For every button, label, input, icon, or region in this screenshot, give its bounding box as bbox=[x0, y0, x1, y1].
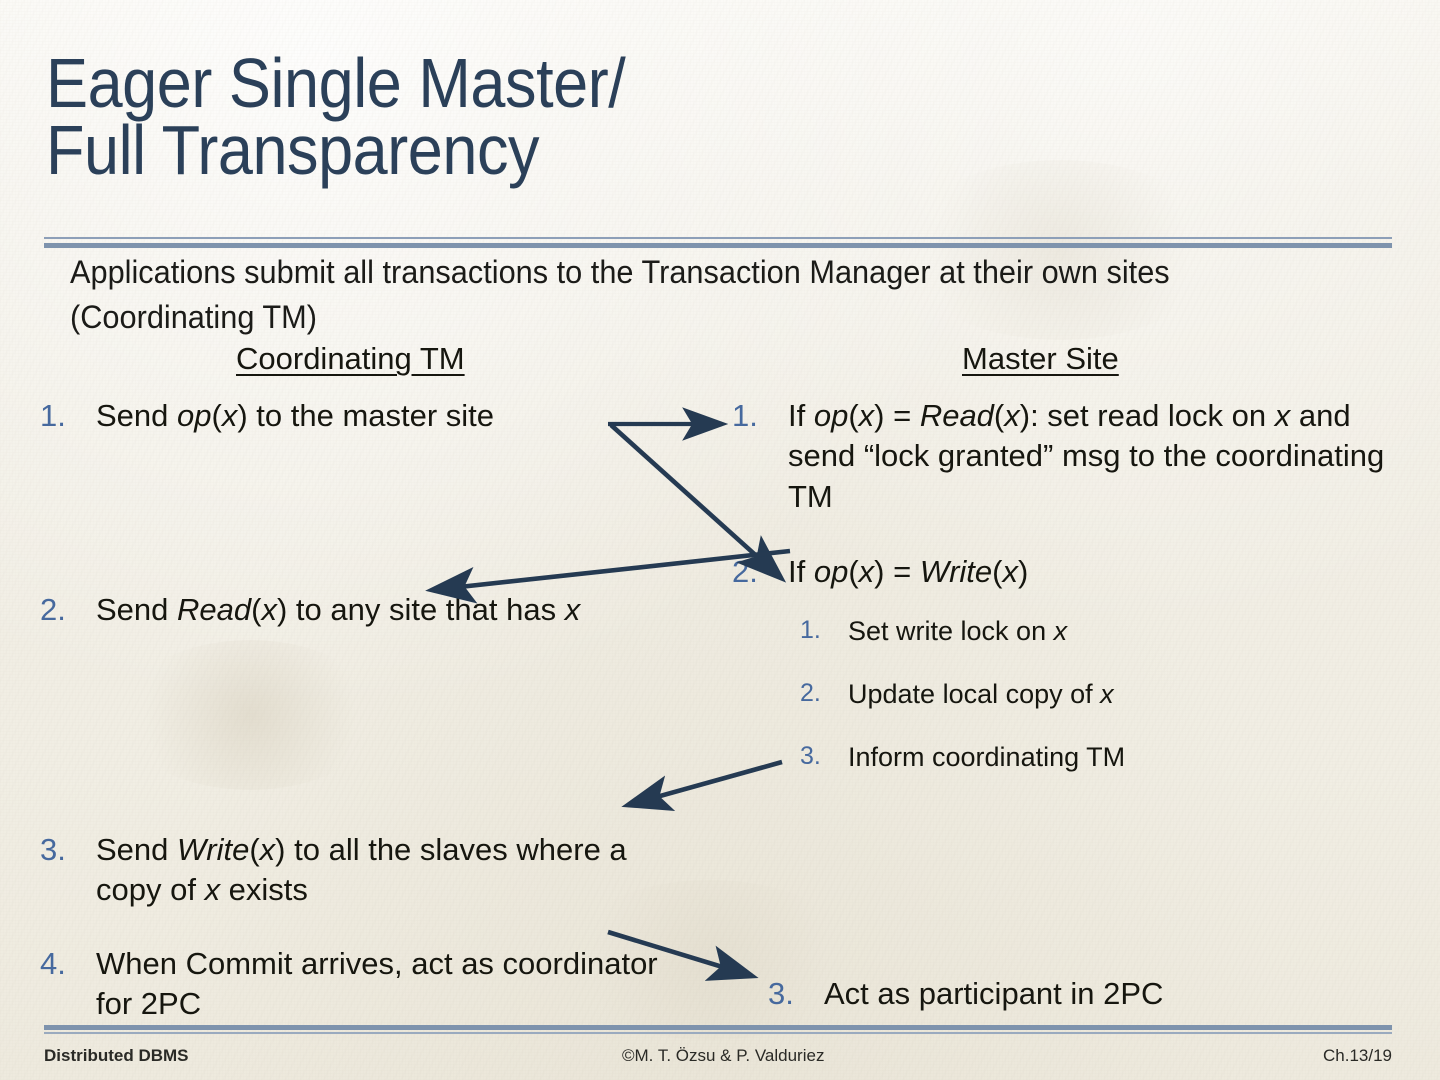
sub-list-item: 3. Inform coordinating TM bbox=[800, 740, 1440, 775]
list-item-number: 2. bbox=[40, 590, 96, 630]
sub-list-item-text: Update local copy of x bbox=[848, 677, 1440, 712]
intro-paragraph: Applications submit all transactions to … bbox=[70, 250, 1308, 341]
list-item: 1. If op(x) = Read(x): set read lock on … bbox=[732, 396, 1422, 517]
list-item: 2. Send Read(x) to any site that has x bbox=[40, 590, 700, 630]
column-heading-coordinating-tm: Coordinating TM bbox=[236, 341, 465, 377]
list-item-number: 3. bbox=[768, 974, 824, 1014]
list-item: 4. When Commit arrives, act as coordinat… bbox=[40, 944, 700, 1025]
title-divider-bar bbox=[44, 243, 1392, 248]
sub-list-item: 1. Set write lock on x bbox=[800, 614, 1440, 649]
list-item-text: Send Write(x) to all the slaves where a … bbox=[96, 830, 700, 911]
sub-list-item-text: Inform coordinating TM bbox=[848, 740, 1440, 775]
sub-list-item-number: 3. bbox=[800, 740, 848, 773]
list-item-text: Send Read(x) to any site that has x bbox=[96, 590, 700, 630]
footer-divider bbox=[44, 1025, 1392, 1034]
footer-slide-number: Ch.13/19 bbox=[1323, 1046, 1392, 1066]
list-item-number: 1. bbox=[732, 396, 788, 436]
title-divider bbox=[44, 237, 1392, 248]
paper-blotch bbox=[120, 640, 380, 790]
column-heading-master-site: Master Site bbox=[962, 341, 1119, 377]
slide-footer: Distributed DBMS ©M. T. Özsu & P. Valdur… bbox=[44, 1046, 1392, 1072]
list-item-number: 1. bbox=[40, 396, 96, 436]
arrow-inform-coordinating-tm bbox=[628, 762, 782, 805]
title-line-2: Full Transparency bbox=[46, 111, 539, 189]
master-site-sub-list: 1. Set write lock on x 2. Update local c… bbox=[800, 614, 1440, 775]
list-item: 3. Act as participant in 2PC bbox=[768, 974, 1428, 1014]
footer-course-label: Distributed DBMS bbox=[44, 1046, 189, 1066]
list-item-text: When Commit arrives, act as coordinator … bbox=[96, 944, 700, 1025]
list-item-text: If op(x) = Write(x) bbox=[788, 552, 1422, 592]
list-item-text: Send op(x) to the master site bbox=[96, 396, 700, 436]
list-item-text: If op(x) = Read(x): set read lock on x a… bbox=[788, 396, 1422, 517]
slide-canvas: Eager Single Master/Full Transparency Ap… bbox=[0, 0, 1440, 1080]
list-item-text: Act as participant in 2PC bbox=[824, 974, 1428, 1014]
footer-copyright: ©M. T. Özsu & P. Valduriez bbox=[622, 1046, 824, 1066]
sub-list-item: 2. Update local copy of x bbox=[800, 677, 1440, 712]
list-item-number: 4. bbox=[40, 944, 96, 984]
sub-list-item-number: 2. bbox=[800, 677, 848, 710]
title-divider-hairline bbox=[44, 237, 1392, 239]
footer-divider-bar bbox=[44, 1025, 1392, 1030]
list-item: 3. Send Write(x) to all the slaves where… bbox=[40, 830, 700, 911]
sub-list-item-text: Set write lock on x bbox=[848, 614, 1440, 649]
list-item-number: 2. bbox=[732, 552, 788, 592]
sub-list-item-number: 1. bbox=[800, 614, 848, 647]
list-item: 2. If op(x) = Write(x) bbox=[732, 552, 1422, 592]
list-item: 1. Send op(x) to the master site bbox=[40, 396, 700, 436]
list-item-number: 3. bbox=[40, 830, 96, 870]
slide-title: Eager Single Master/Full Transparency bbox=[46, 50, 1252, 184]
footer-divider-hairline bbox=[44, 1032, 1392, 1034]
